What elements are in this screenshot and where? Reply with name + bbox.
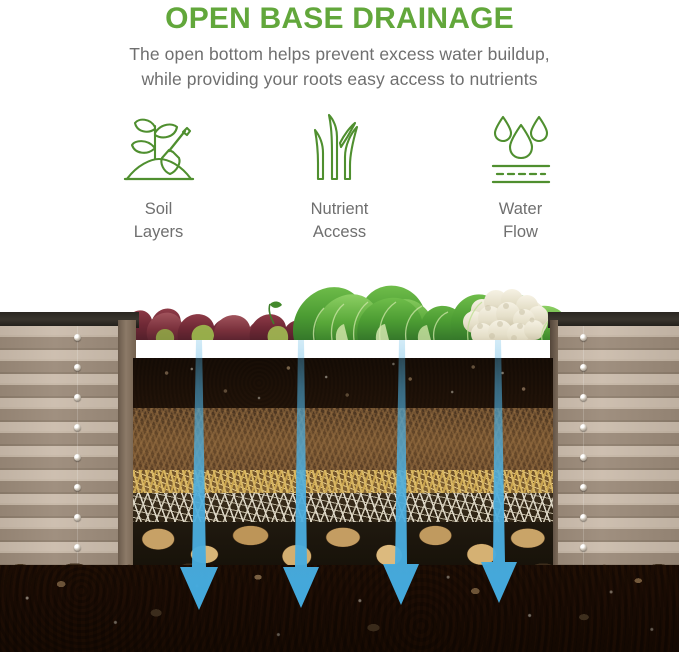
ground-soil bbox=[0, 565, 679, 652]
feature-water-flow: Water Flow bbox=[430, 112, 611, 244]
page-title: OPEN BASE DRAINAGE bbox=[0, 2, 679, 36]
header: OPEN BASE DRAINAGE The open bottom helps… bbox=[0, 0, 679, 92]
soil-cross-section bbox=[133, 290, 553, 567]
subtitle-line-1: The open bottom helps prevent excess wat… bbox=[0, 42, 679, 67]
feature-label-line-1: Nutrient bbox=[311, 198, 369, 221]
panel-seam-line bbox=[583, 326, 584, 567]
screw bbox=[580, 364, 587, 371]
screw bbox=[580, 394, 587, 401]
screw bbox=[74, 484, 81, 491]
page-subtitle: The open bottom helps prevent excess wat… bbox=[0, 42, 679, 92]
feature-label-soil-layers: Soil Layers bbox=[134, 198, 184, 244]
feature-label-line-1: Soil bbox=[134, 198, 184, 221]
screw bbox=[580, 544, 587, 551]
water-droplets-drainage-icon bbox=[481, 112, 561, 188]
feature-label-water-flow: Water Flow bbox=[499, 198, 542, 244]
feature-label-line-2: Layers bbox=[134, 221, 184, 244]
soil-layer-compost-mulch bbox=[133, 408, 553, 470]
soil-layer-twigs-sticks bbox=[133, 493, 553, 525]
screw bbox=[580, 454, 587, 461]
planter-wall-left bbox=[0, 326, 136, 567]
feature-soil-layers: Soil Layers bbox=[68, 112, 249, 244]
screw bbox=[580, 424, 587, 431]
feature-label-nutrient-access: Nutrient Access bbox=[311, 198, 369, 244]
screw bbox=[74, 514, 81, 521]
screw bbox=[74, 334, 81, 341]
feature-label-line-1: Water bbox=[499, 198, 542, 221]
grass-blades-icon bbox=[305, 112, 375, 188]
screw bbox=[74, 424, 81, 431]
feature-nutrient-access: Nutrient Access bbox=[249, 112, 430, 244]
screw bbox=[74, 454, 81, 461]
screw-column-left bbox=[72, 326, 84, 567]
feature-label-line-2: Flow bbox=[499, 221, 542, 244]
screw bbox=[580, 484, 587, 491]
feature-label-line-2: Access bbox=[311, 221, 369, 244]
screw bbox=[580, 514, 587, 521]
plant-shovel-icon bbox=[121, 112, 197, 188]
screw bbox=[74, 394, 81, 401]
panel-seam-line bbox=[77, 326, 78, 567]
screw bbox=[580, 334, 587, 341]
feature-list: Soil Layers Nutrient Access bbox=[0, 112, 679, 260]
soil-layer-dark-topsoil bbox=[133, 358, 553, 408]
planter-wall-right bbox=[550, 326, 679, 567]
screw bbox=[74, 544, 81, 551]
screw bbox=[74, 364, 81, 371]
subtitle-line-2: while providing your roots easy access t… bbox=[0, 67, 679, 92]
raised-garden-bed-cross-section bbox=[0, 262, 679, 652]
screw-column-right bbox=[578, 326, 590, 567]
